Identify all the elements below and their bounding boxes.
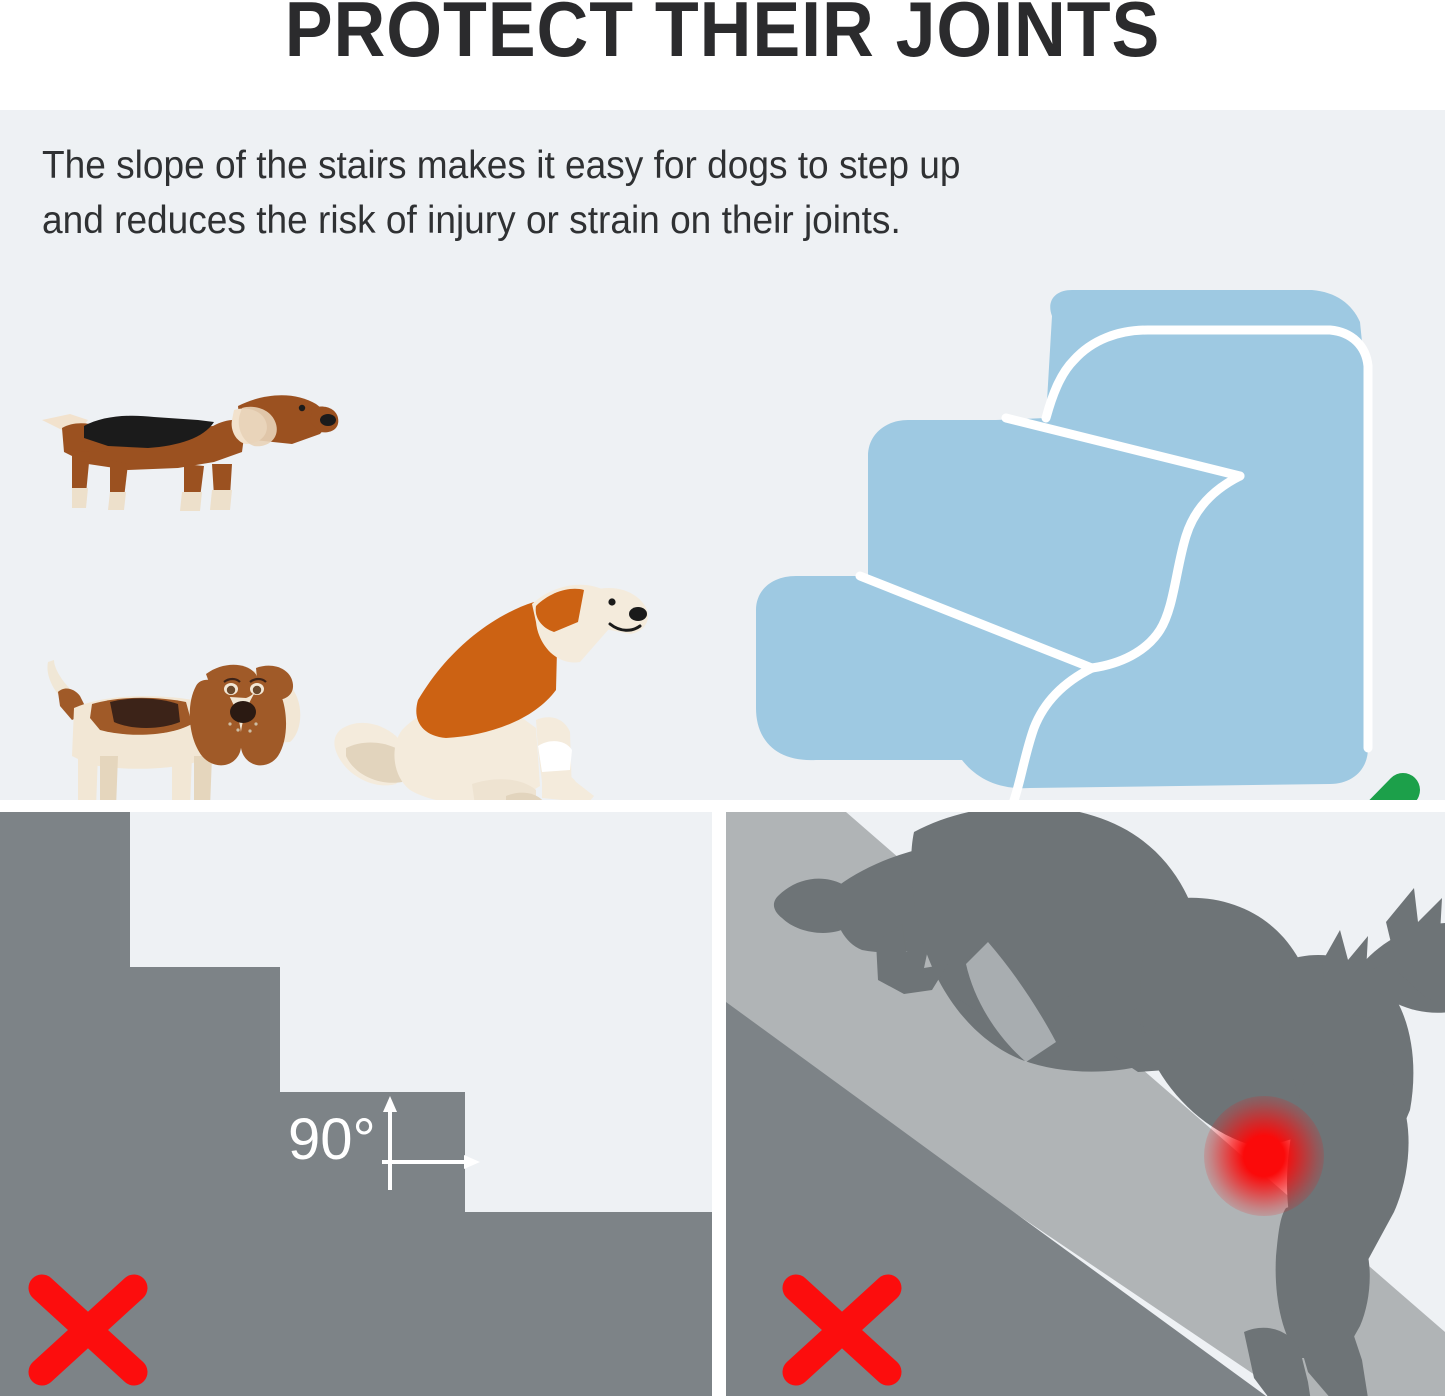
stair-step-2 [130,967,280,1396]
injured-dog-with-bandage-illustration [322,570,682,800]
infographic-page: PROTECT THEIR JOINTS The slope of the st… [0,0,1445,1396]
cross-icon-jumping-dog [778,1274,906,1386]
page-title: PROTECT THEIR JOINTS [58,0,1387,75]
right-angle-arrows-icon [376,1090,486,1200]
basset-hound-dog-illustration [30,638,330,800]
check-icon [1249,770,1429,800]
stair-step-4 [465,1212,712,1396]
angle-annotation-label: 90° [288,1106,376,1173]
intro-paragraph: The slope of the stairs makes it easy fo… [42,138,1021,249]
dachshund-dog-illustration [28,368,358,513]
benefits-panel: The slope of the stairs makes it easy fo… [0,110,1445,800]
pet-stairs-product-illustration [700,278,1420,800]
cross-icon-steep-stairs [24,1274,152,1386]
header-band: PROTECT THEIR JOINTS [0,0,1445,108]
